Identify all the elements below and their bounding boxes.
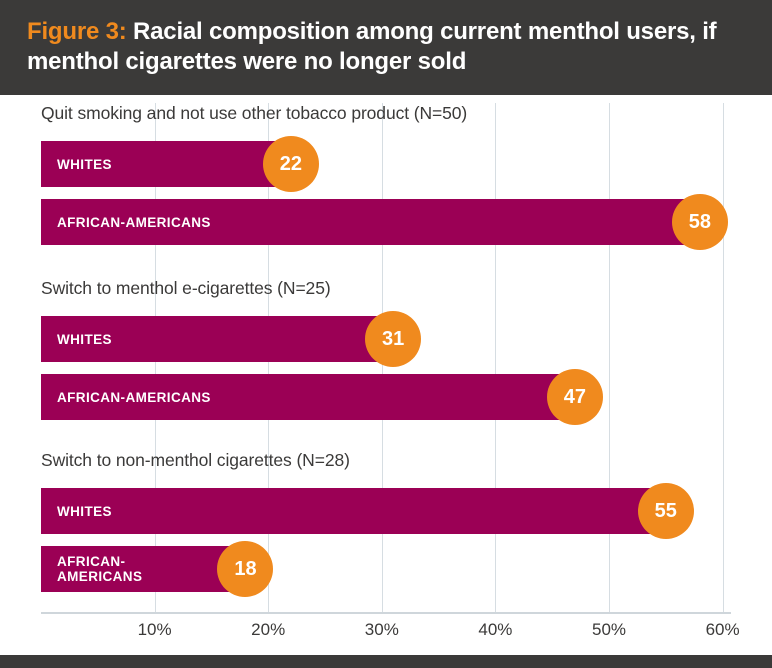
figure-header: Figure 3: Racial composition among curre… [0, 0, 772, 95]
chart-bar-row[interactable]: WHITES55 [41, 488, 666, 534]
figure-title-text: Racial composition among current menthol… [27, 18, 716, 75]
chart-bar-label: WHITES [57, 141, 112, 187]
x-tick-label: 60% [693, 620, 753, 640]
chart-bar-row[interactable]: WHITES22 [41, 141, 291, 187]
chart-bar[interactable] [41, 488, 666, 534]
chart-bar-row[interactable]: AFRICAN-AMERICANS47 [41, 374, 575, 420]
figure-container: Figure 3: Racial composition among curre… [0, 0, 772, 668]
chart-bar-label: AFRICAN- AMERICANS [57, 546, 142, 592]
chart-group-title: Switch to menthol e-cigarettes (N=25) [41, 278, 331, 299]
chart-value-bubble: 58 [672, 194, 728, 250]
chart-bar-row[interactable]: AFRICAN- AMERICANS18 [41, 546, 245, 592]
chart-group: Quit smoking and not use other tobacco p… [0, 103, 772, 245]
x-tick-label: 10% [125, 620, 185, 640]
figure-footer [0, 655, 772, 668]
chart-bar-row[interactable]: AFRICAN-AMERICANS58 [41, 199, 700, 245]
chart-bar-row[interactable]: WHITES31 [41, 316, 393, 362]
chart-value-bubble: 55 [638, 483, 694, 539]
chart-group-title: Quit smoking and not use other tobacco p… [41, 103, 467, 124]
page-title: Figure 3: Racial composition among curre… [27, 17, 742, 77]
chart-bar-label: AFRICAN-AMERICANS [57, 199, 211, 245]
chart-plot-area: Quit smoking and not use other tobacco p… [0, 95, 772, 668]
x-tick-label: 30% [352, 620, 412, 640]
chart-value-bubble: 31 [365, 311, 421, 367]
chart-bar-label: WHITES [57, 316, 112, 362]
chart-value-bubble: 18 [217, 541, 273, 597]
chart-group: Switch to menthol e-cigarettes (N=25)WHI… [0, 278, 772, 420]
x-tick-label: 40% [465, 620, 525, 640]
chart-value-bubble: 47 [547, 369, 603, 425]
figure-number-label: Figure 3: [27, 18, 127, 45]
x-tick-label: 20% [238, 620, 298, 640]
chart-group: Switch to non-menthol cigarettes (N=28)W… [0, 450, 772, 592]
chart-value-bubble: 22 [263, 136, 319, 192]
x-axis-line [41, 612, 731, 614]
x-tick-label: 50% [579, 620, 639, 640]
chart-group-title: Switch to non-menthol cigarettes (N=28) [41, 450, 350, 471]
chart-bar-label: WHITES [57, 488, 112, 534]
chart-bar-label: AFRICAN-AMERICANS [57, 374, 211, 420]
